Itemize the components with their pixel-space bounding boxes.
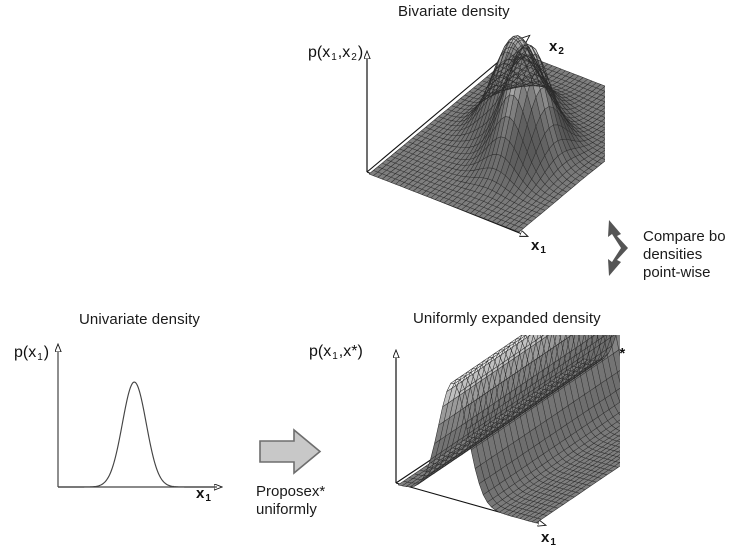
expanded-z-base: p(x [309, 343, 331, 360]
compare-line-3: point-wise [643, 264, 726, 282]
univariate-curve-svg [45, 340, 235, 500]
compare-arrow-shape [608, 220, 628, 276]
univariate-density-plot [45, 340, 235, 500]
univariate-density-curve [58, 382, 217, 487]
bivariate-z-axis-sub1: 1 [330, 52, 338, 63]
univariate-y-sub: 1 [36, 352, 44, 363]
expanded-density-plot [390, 335, 620, 548]
propose-arrow-svg [258, 427, 324, 477]
bivariate-z-axis-mid: ,x [338, 44, 350, 61]
univariate-panel-title: Univariate density [79, 311, 200, 328]
expanded-z-mid: ,x* [339, 343, 358, 360]
figure-canvas: Bivariate density Univariate density Uni… [0, 0, 736, 548]
bivariate-z-axis-head: p(x [308, 44, 330, 61]
expanded-z-end: ) [357, 343, 362, 360]
compare-arrow-svg [604, 214, 648, 294]
propose-line-1: Proposex* [256, 483, 325, 501]
univariate-y-axis-label: p(x1) [14, 344, 49, 363]
compare-double-arrow [604, 214, 648, 294]
expanded-z-sub1: 1 [331, 351, 339, 362]
univariate-y-base: p(x [14, 344, 36, 361]
propose-annotation: Proposex* uniformly [256, 483, 325, 519]
propose-arrow-shape [260, 430, 320, 473]
expanded-mesh-lines [398, 335, 620, 523]
bivariate-panel-title: Bivariate density [398, 3, 510, 20]
propose-block-arrow [258, 427, 324, 477]
bivariate-density-plot [355, 28, 605, 253]
compare-annotation: Compare bo densities point-wise [643, 228, 726, 282]
compare-line-1: Compare bo [643, 228, 726, 246]
propose-line-2: uniformly [256, 501, 325, 519]
expanded-surface-svg [390, 335, 620, 548]
bivariate-surface-svg [355, 28, 605, 253]
bivariate-mesh-lines [369, 36, 605, 233]
expanded-z-axis-label: p(x1,x*) [309, 343, 363, 362]
expanded-panel-title: Uniformly expanded density [413, 310, 601, 327]
compare-line-2: densities [643, 246, 726, 264]
